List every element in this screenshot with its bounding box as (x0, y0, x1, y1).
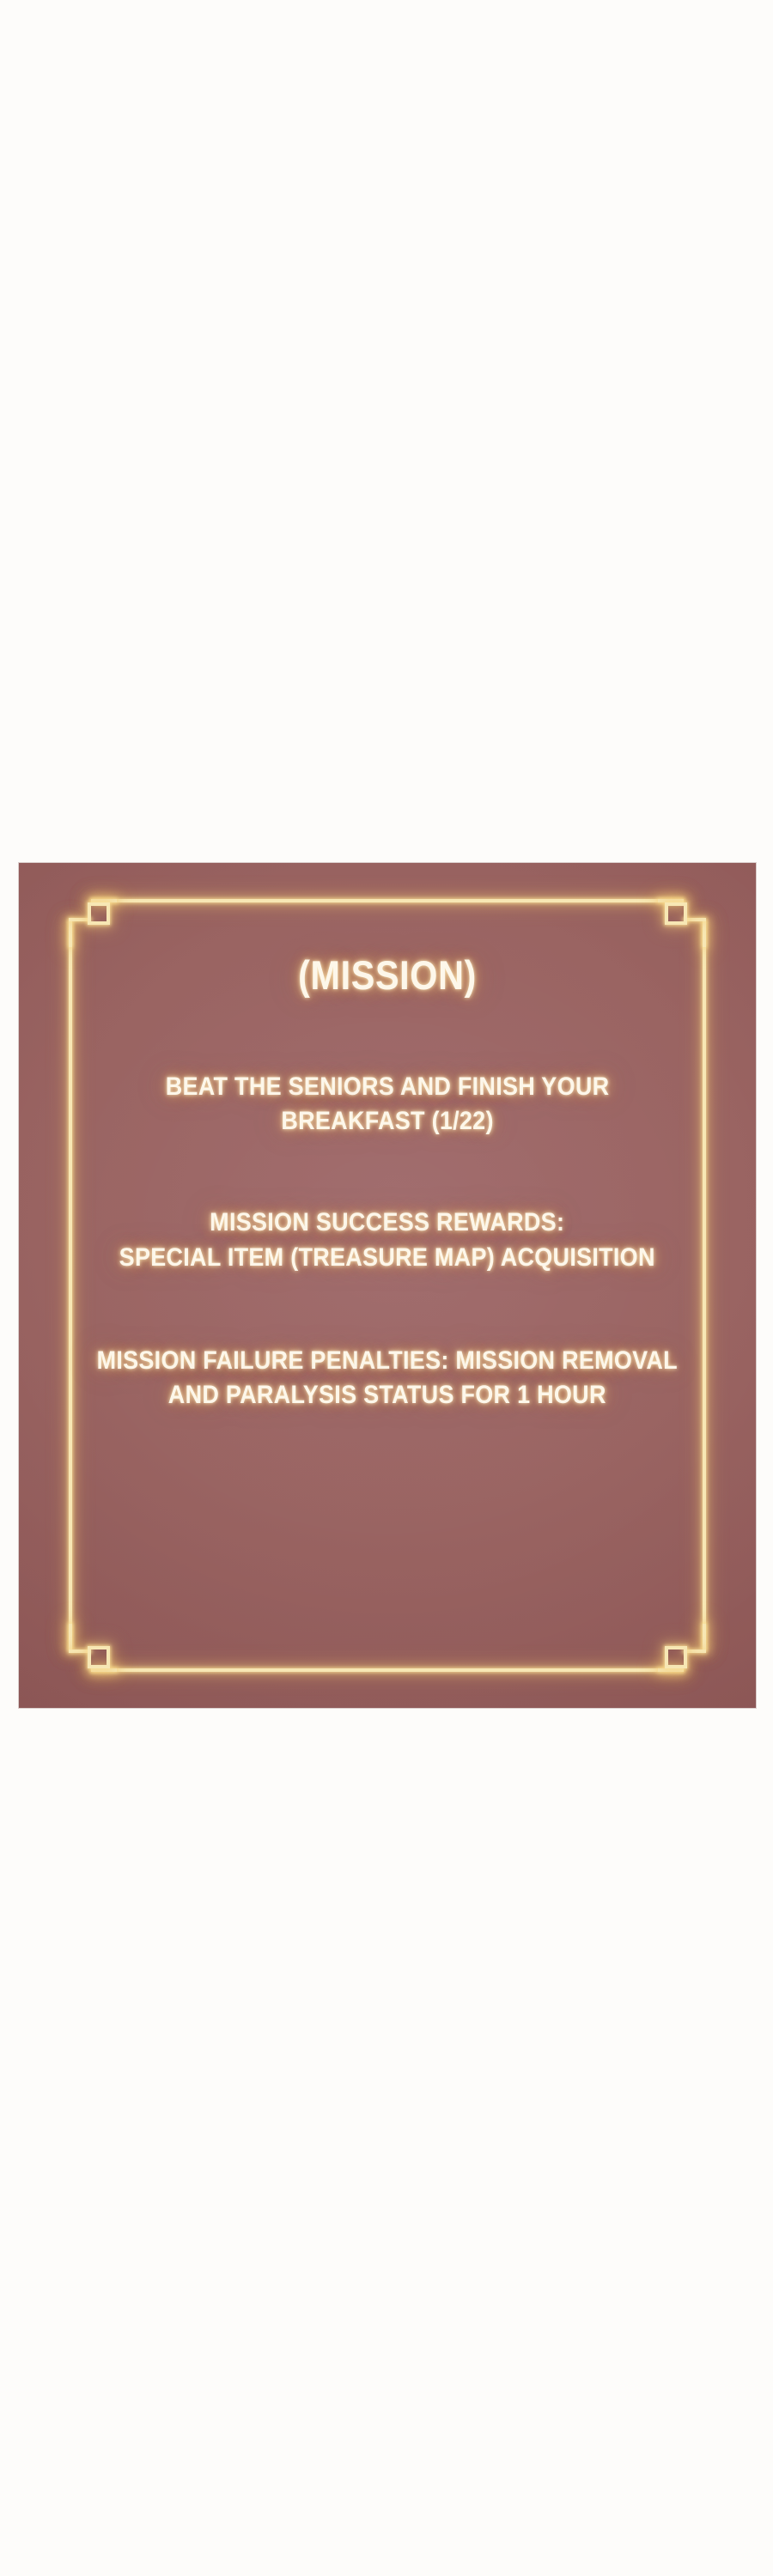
objective-line-2: BREAKFAST (1/22) (166, 1104, 610, 1139)
mission-panel: (MISSION) BEAT THE SENIORS AND FINISH YO… (19, 863, 756, 1708)
corner-joint (684, 1649, 706, 1653)
corner-arm-vertical (69, 1624, 72, 1649)
penalties-line-2: AND PARALYSIS STATUS FOR 1 HOUR (97, 1378, 678, 1413)
page-root: (MISSION) BEAT THE SENIORS AND FINISH YO… (0, 0, 773, 2576)
border-rule-left (69, 921, 72, 1649)
mission-penalties: MISSION FAILURE PENALTIES: MISSION REMOV… (97, 1344, 678, 1413)
corner-square-notch (665, 902, 687, 925)
corner-arm-vertical (69, 921, 72, 947)
corner-arm-horizontal (658, 899, 684, 902)
border-rule-right (703, 921, 706, 1649)
corner-arm-horizontal (91, 1668, 117, 1672)
penalties-line-1: MISSION FAILURE PENALTIES: MISSION REMOV… (97, 1344, 678, 1378)
corner-arm-horizontal (658, 1668, 684, 1672)
border-rule-top (91, 899, 684, 902)
corner-arm-vertical (703, 921, 706, 947)
rewards-line-1: SPECIAL ITEM (TREASURE MAP) ACQUISITION (119, 1241, 655, 1275)
corner-joint (684, 918, 706, 921)
corner-joint (69, 1649, 91, 1653)
corner-square-notch (88, 1646, 110, 1668)
mission-objective: BEAT THE SENIORS AND FINISH YOUR BREAKFA… (166, 1070, 610, 1139)
border-rule-bottom (91, 1668, 684, 1672)
corner-arm-horizontal (91, 899, 117, 902)
rewards-heading: MISSION SUCCESS REWARDS: (119, 1206, 655, 1240)
mission-content: (MISSION) BEAT THE SENIORS AND FINISH YO… (79, 928, 696, 1643)
corner-square-notch (88, 902, 110, 925)
corner-arm-vertical (703, 1624, 706, 1649)
corner-joint (69, 918, 91, 921)
objective-line-1: BEAT THE SENIORS AND FINISH YOUR (166, 1070, 610, 1104)
corner-square-notch (665, 1646, 687, 1668)
mission-rewards: MISSION SUCCESS REWARDS: SPECIAL ITEM (T… (119, 1206, 655, 1274)
mission-title: (MISSION) (298, 949, 477, 1003)
